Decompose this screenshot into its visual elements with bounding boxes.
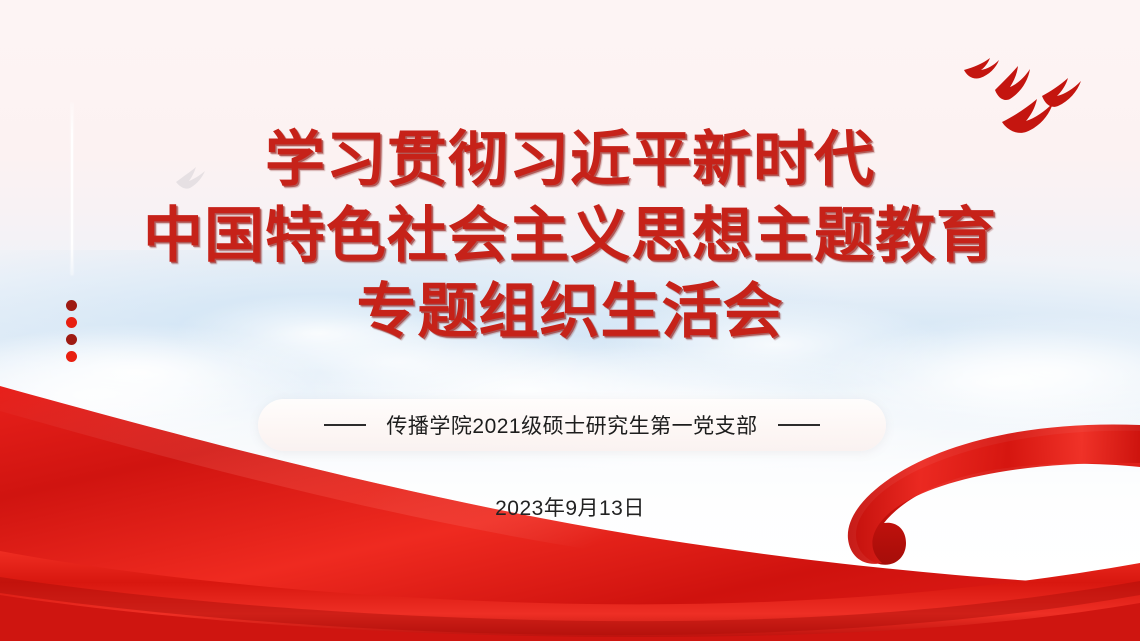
presentation-title-slide: 学习贯彻习近平新时代 中国特色社会主义思想主题教育 专题组织生活会 传播学院20… — [0, 0, 1140, 641]
title-line-3: 专题组织生活会 — [0, 282, 1140, 342]
subtitle-pill: 传播学院2021级硕士研究生第一党支部 — [258, 399, 886, 451]
title-block: 学习贯彻习近平新时代 中国特色社会主义思想主题教育 专题组织生活会 — [0, 130, 1140, 342]
title-line-2: 中国特色社会主义思想主题教育 — [0, 206, 1140, 266]
flying-doves-icon — [958, 38, 1118, 134]
date-text: 2023年9月13日 — [0, 492, 1140, 522]
title-line-1: 学习贯彻习近平新时代 — [0, 130, 1140, 190]
dash-right-icon — [778, 424, 820, 426]
subtitle-text: 传播学院2021级硕士研究生第一党支部 — [386, 410, 757, 440]
decorative-dot — [66, 351, 77, 362]
dash-left-icon — [324, 424, 366, 426]
